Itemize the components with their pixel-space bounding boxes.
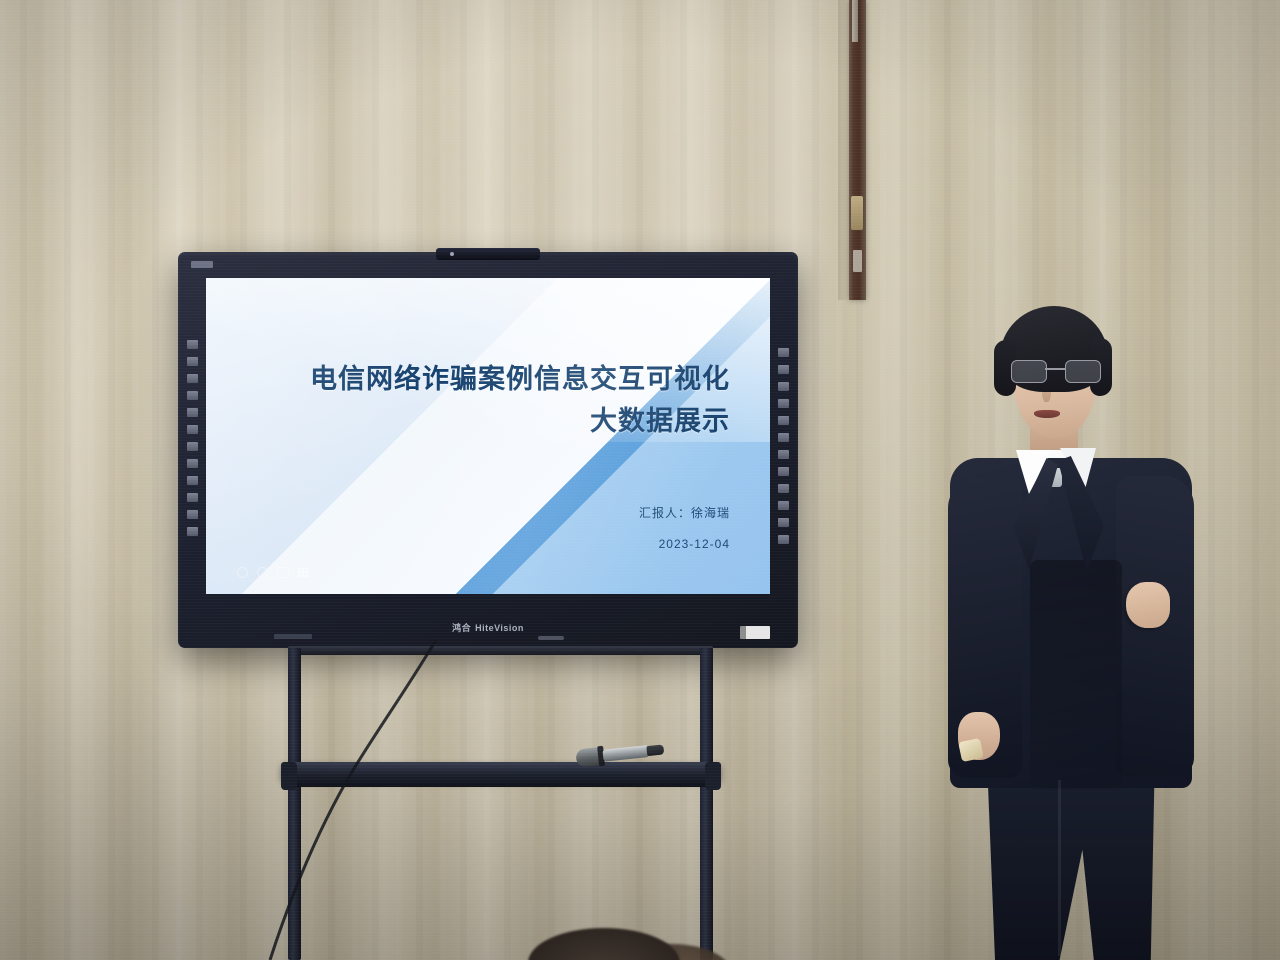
board-top-label (191, 261, 213, 268)
stand-shelf-front (281, 778, 721, 787)
board-port-strip (274, 634, 312, 639)
stand-leg-right (700, 648, 713, 960)
door-gap (849, 0, 866, 300)
glasses-lens-right (1065, 360, 1101, 383)
slide-title-line-2: 大数据展示 (248, 400, 730, 442)
bezel-button[interactable] (778, 535, 789, 544)
jacket-shadow (1030, 560, 1122, 790)
bezel-button[interactable] (778, 365, 789, 374)
presenter-hand-upper (1126, 582, 1170, 628)
right-bezel-button-column[interactable] (778, 348, 789, 544)
bezel-button[interactable] (778, 416, 789, 425)
glasses-bridge (1045, 368, 1065, 370)
glasses-icon (1009, 360, 1101, 382)
presenter-trousers (976, 770, 1166, 960)
board-camera-bar (436, 248, 540, 260)
bezel-button[interactable] (187, 340, 198, 349)
pen-icon[interactable] (277, 567, 289, 578)
presentation-control-bar[interactable] (228, 562, 396, 582)
bezel-button[interactable] (778, 433, 789, 442)
door-latch (851, 196, 863, 230)
microphone-tail (646, 744, 664, 756)
presenter-mouth (1034, 410, 1060, 418)
slide-date: 2023-12-04 (470, 529, 730, 560)
bezel-button[interactable] (778, 382, 789, 391)
slide-presenter-label: 汇报人：徐海瑞 (470, 498, 730, 529)
bezel-button[interactable] (187, 391, 198, 400)
bezel-button[interactable] (187, 408, 198, 417)
slide-title: 电信网络诈骗案例信息交互可视化 大数据展示 (248, 358, 730, 442)
bezel-button[interactable] (187, 459, 198, 468)
presenter (930, 300, 1230, 960)
stand-shelf-corner-left (281, 762, 297, 790)
bezel-button[interactable] (187, 476, 198, 485)
bezel-button[interactable] (778, 501, 789, 510)
board-brand-name: HiteVision (475, 623, 524, 633)
bezel-button[interactable] (778, 484, 789, 493)
slide-meta-block: 汇报人：徐海瑞 2023-12-04 (470, 498, 730, 560)
next-slide-icon[interactable] (257, 567, 268, 578)
slide-grid-icon[interactable] (298, 568, 309, 577)
stand-crossbar (288, 646, 713, 655)
bezel-button[interactable] (778, 399, 789, 408)
presentation-photo-scene: 电信网络诈骗案例信息交互可视化 大数据展示 汇报人：徐海瑞 2023-12-04… (0, 0, 1280, 960)
stand-leg-left (288, 648, 301, 960)
stand-shelf-corner-right (705, 762, 721, 790)
board-screen[interactable]: 电信网络诈骗案例信息交互可视化 大数据展示 汇报人：徐海瑞 2023-12-04 (206, 278, 770, 594)
interactive-smartboard[interactable]: 电信网络诈骗案例信息交互可视化 大数据展示 汇报人：徐海瑞 2023-12-04… (178, 252, 798, 648)
trouser-crease (1058, 780, 1061, 956)
bezel-button[interactable] (187, 442, 198, 451)
microphone-body (602, 745, 649, 762)
slide-title-line-1: 电信网络诈骗案例信息交互可视化 (248, 358, 730, 400)
bezel-button[interactable] (778, 450, 789, 459)
bezel-button[interactable] (187, 425, 198, 434)
bezel-button[interactable] (187, 374, 198, 383)
board-ir-receiver (538, 636, 564, 640)
previous-slide-icon[interactable] (237, 567, 248, 578)
bezel-button[interactable] (778, 518, 789, 527)
bezel-button[interactable] (778, 467, 789, 476)
curtain-rod-end (852, 0, 858, 42)
door-plate (853, 250, 862, 272)
board-brand: 鸿合HiteVision (452, 621, 524, 634)
bezel-button[interactable] (187, 510, 198, 519)
board-asset-sticker (740, 626, 770, 639)
bezel-button[interactable] (778, 348, 789, 357)
bezel-button[interactable] (187, 527, 198, 536)
glasses-lens-left (1011, 360, 1047, 383)
bezel-button[interactable] (187, 357, 198, 366)
left-bezel-button-column[interactable] (187, 340, 198, 536)
bezel-button[interactable] (187, 493, 198, 502)
board-brand-mark: 鸿合 (452, 623, 471, 633)
